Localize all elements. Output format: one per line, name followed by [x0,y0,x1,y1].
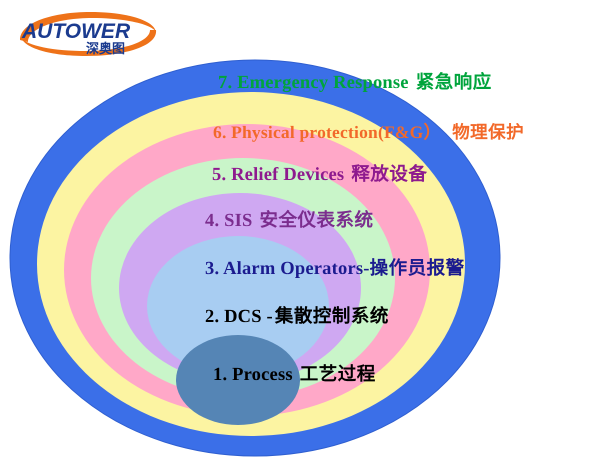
layer-label-2-zh: 集散控制系统 [275,306,389,327]
layer-label-3-en: 3. Alarm Operators- [205,259,370,279]
layer-label-6: 6. Physical protection(F&G）物理保护 [213,124,524,143]
layer-label-1: 1. Process工艺过程 [213,366,376,385]
layer-label-1-zh: 工艺过程 [300,364,376,385]
layer-label-2-en: 2. DCS - [205,307,273,327]
layer-label-4-en: 4. SIS [205,211,252,231]
layer-label-7-en: 7. Emergency Response [218,73,409,93]
layer-label-5-en: 5. Relief Devices [212,165,344,185]
layer-label-3-zh: 操作员报警 [370,258,465,279]
layer-label-7-zh: 紧急响应 [416,72,492,93]
layer-label-5: 5. Relief Devices释放设备 [212,166,427,185]
layer-label-4-zh: 安全仪表系统 [259,210,373,231]
layer-label-7: 7. Emergency Response紧急响应 [218,74,492,93]
layer-label-6-en: 6. Physical protection(F&G） [213,122,441,142]
protection-layers-diagram [0,0,600,464]
layer-label-3: 3. Alarm Operators-操作员报警 [205,260,465,279]
layer-label-1-en: 1. Process [213,365,293,385]
layer-label-2: 2. DCS -集散控制系统 [205,308,389,327]
layer-label-5-zh: 释放设备 [351,164,427,185]
slide-canvas: AUTOWER 深奥图 7. Emergency Response紧急响应 6.… [0,0,600,464]
layer-label-4: 4. SIS安全仪表系统 [205,212,374,231]
layer-label-6-zh: 物理保护 [452,123,524,143]
